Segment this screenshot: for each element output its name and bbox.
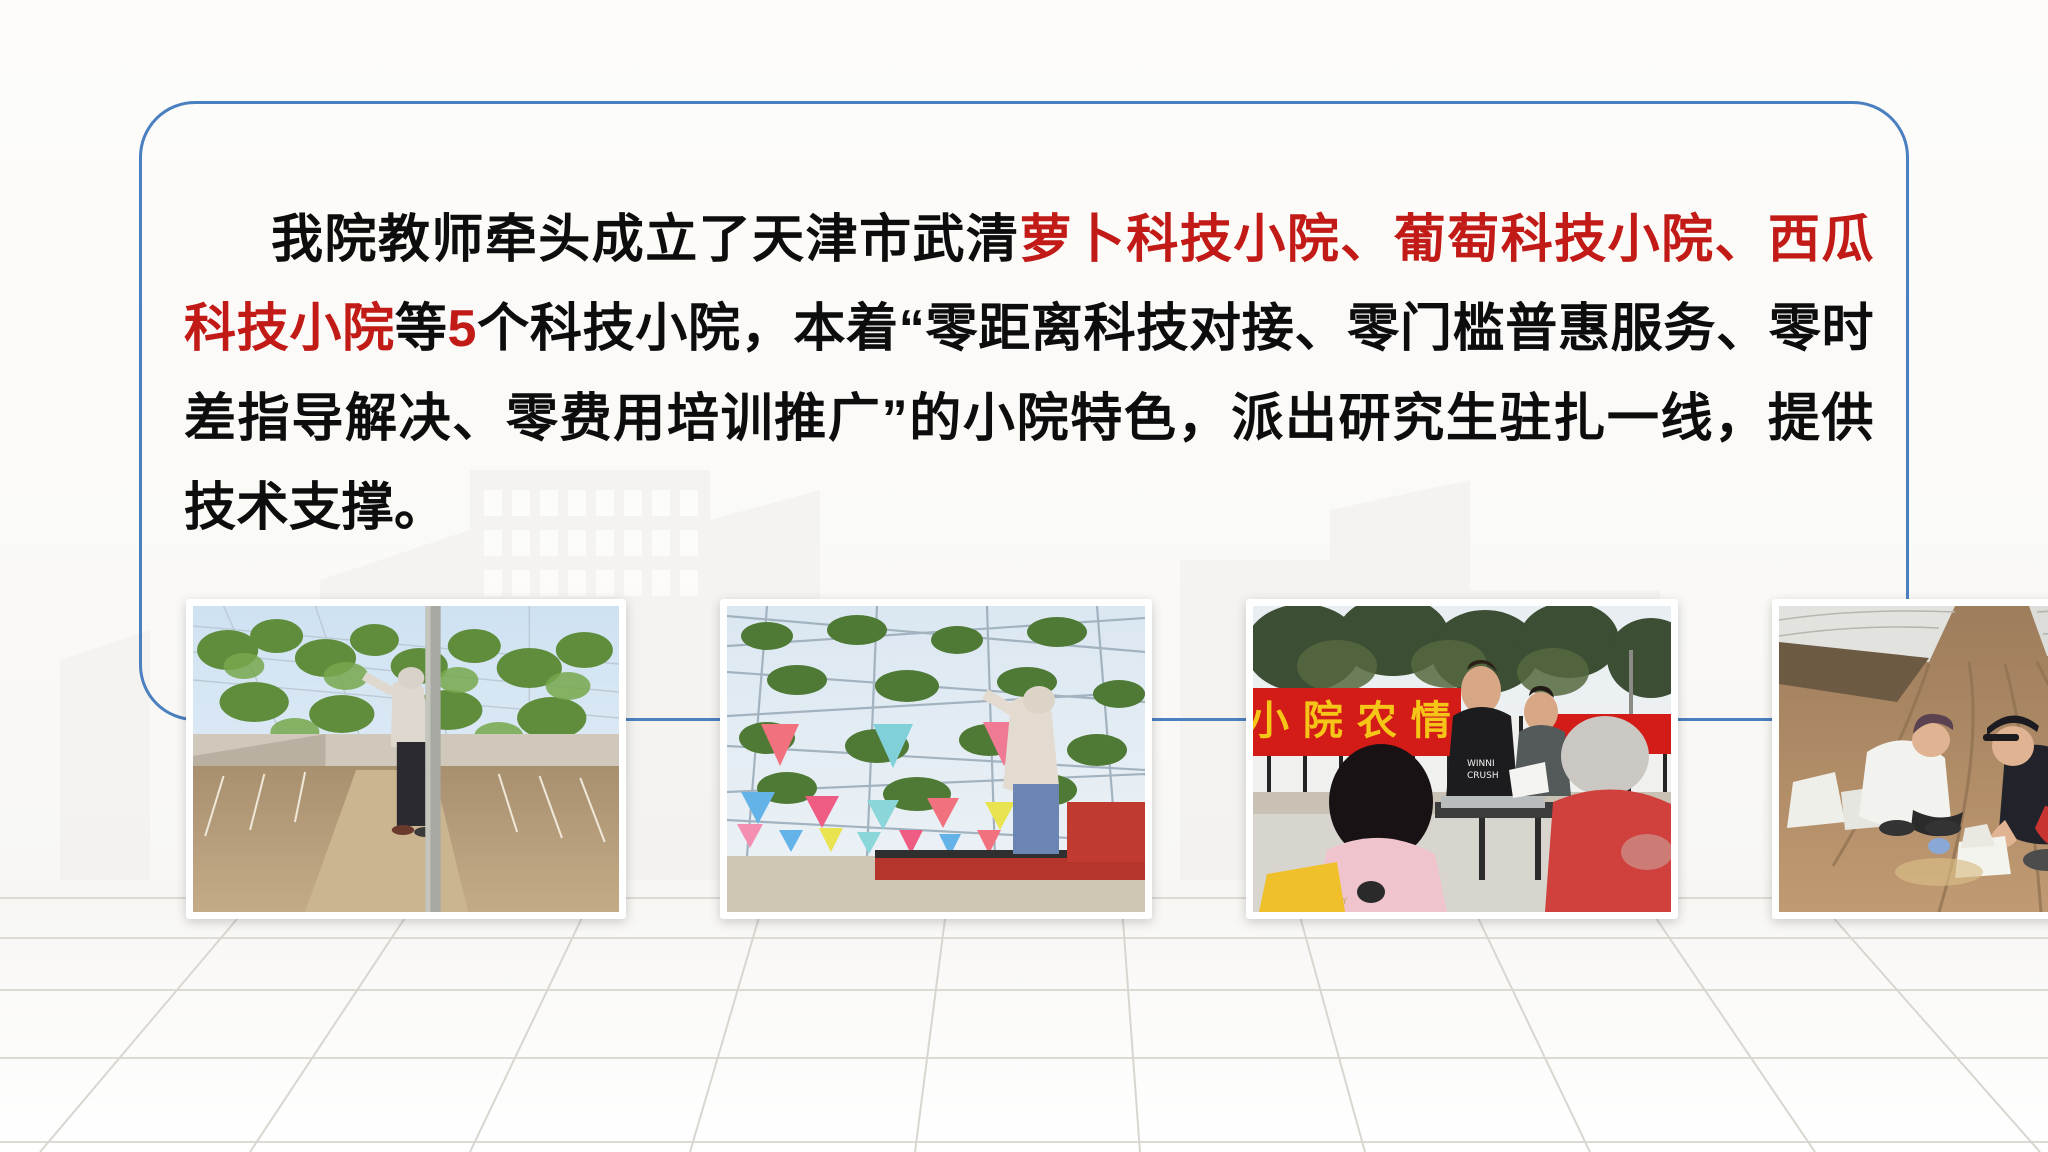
- photo-card-banner-event[interactable]: 小 院 农 情 WINNI CRUSH: [1246, 599, 1678, 919]
- svg-text:WINNI: WINNI: [1467, 759, 1495, 769]
- banner-text-photo3: 小 院 农 情: [1253, 698, 1451, 744]
- photo-card-soil-sampling[interactable]: [1772, 599, 2048, 919]
- svg-text:CRUSH: CRUSH: [1467, 771, 1499, 781]
- paragraph-segment-3: 等: [395, 300, 448, 358]
- paragraph-segment-4-count: 5: [448, 300, 477, 358]
- photo-image-banner-event: 小 院 农 情 WINNI CRUSH: [1253, 606, 1671, 912]
- background-floor-grid: [0, 880, 2048, 1152]
- body-paragraph: 我院教师牵头成立了天津市武清萝卜科技小院、葡萄科技小院、西瓜科技小院等5个科技小…: [184, 196, 1874, 554]
- paragraph-segment-1: 我院教师牵头成立了天津市武清: [270, 211, 1020, 269]
- photo-image-greenhouse-pennants: [727, 606, 1145, 912]
- photo-image-soil-sampling: [1779, 606, 2048, 912]
- photo-card-greenhouse-vines[interactable]: [186, 599, 626, 919]
- photo-card-greenhouse-pennants[interactable]: [720, 599, 1152, 919]
- photo-image-greenhouse-vines: [193, 606, 619, 912]
- slide-root: 我院教师牵头成立了天津市武清萝卜科技小院、葡萄科技小院、西瓜科技小院等5个科技小…: [0, 0, 2048, 1152]
- photo-strip: 小 院 农 情 WINNI CRUSH: [146, 583, 1936, 903]
